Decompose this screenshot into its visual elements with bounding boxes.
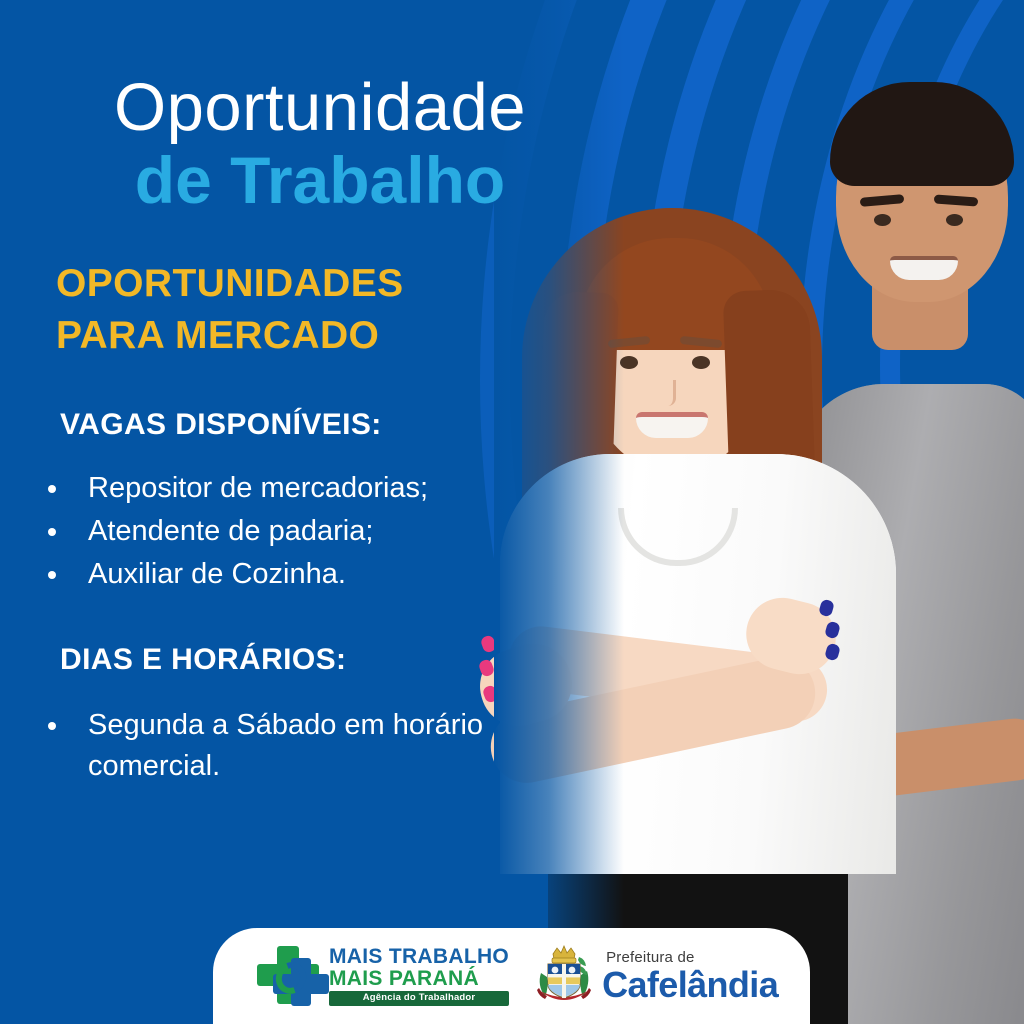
cafelandia-line-1: Prefeitura de: [602, 950, 778, 965]
woman-eye-right: [692, 356, 710, 369]
job-opportunity-poster: Oportunidade de Trabalho OPORTUNIDADES P…: [0, 0, 1024, 1024]
vacancies-heading: VAGAS DISPONÍVEIS:: [60, 406, 536, 444]
list-item: Auxiliar de Cozinha.: [56, 554, 536, 595]
mais-trabalho-tagline: Agência do Trabalhador: [329, 991, 509, 1006]
cafelandia-line-2: Cafelândia: [602, 967, 778, 1003]
schedule-list: Segunda a Sábado em horário comercial.: [56, 705, 536, 787]
coat-of-arms-icon: [535, 943, 593, 1009]
list-item: Segunda a Sábado em horário comercial.: [56, 705, 536, 787]
woman-smile: [636, 412, 708, 438]
vacancies-list: Repositor de mercadorias; Atendente de p…: [56, 468, 536, 595]
schedule-heading: DIAS E HORÁRIOS:: [60, 641, 536, 679]
poster-content: OPORTUNIDADES PARA MERCADO VAGAS DISPONÍ…: [56, 258, 536, 789]
mais-trabalho-line-2: MAIS PARANÁ: [329, 968, 509, 989]
cafelandia-text: Prefeitura de Cafelândia: [602, 950, 778, 1003]
opportunity-heading-line-2: PARA MERCADO: [56, 310, 536, 362]
double-plus-cross-icon: [257, 946, 323, 1006]
man-hair: [830, 82, 1014, 186]
man-eye-right: [946, 214, 963, 226]
mais-trabalho-line-1: MAIS TRABALHO: [329, 946, 509, 967]
headline-line-1: Oportunidade: [0, 72, 640, 144]
headline-line-2: de Trabalho: [0, 144, 640, 216]
man-eye-left: [874, 214, 891, 226]
woman-nose: [662, 380, 676, 406]
footer-logo-panel: MAIS TRABALHO MAIS PARANÁ Agência do Tra…: [213, 928, 810, 1024]
poster-headline: Oportunidade de Trabalho: [0, 72, 640, 216]
opportunity-heading-line-1: OPORTUNIDADES: [56, 258, 536, 310]
logo-row: MAIS TRABALHO MAIS PARANÁ Agência do Tra…: [213, 943, 778, 1009]
opportunity-heading: OPORTUNIDADES PARA MERCADO: [56, 258, 536, 362]
list-item: Repositor de mercadorias;: [56, 468, 536, 509]
mais-trabalho-text: MAIS TRABALHO MAIS PARANÁ Agência do Tra…: [329, 946, 509, 1006]
man-smile: [890, 256, 958, 280]
cafelandia-logo: Prefeitura de Cafelândia: [535, 943, 778, 1009]
list-item: Atendente de padaria;: [56, 511, 536, 552]
mais-trabalho-logo: MAIS TRABALHO MAIS PARANÁ Agência do Tra…: [257, 946, 509, 1006]
